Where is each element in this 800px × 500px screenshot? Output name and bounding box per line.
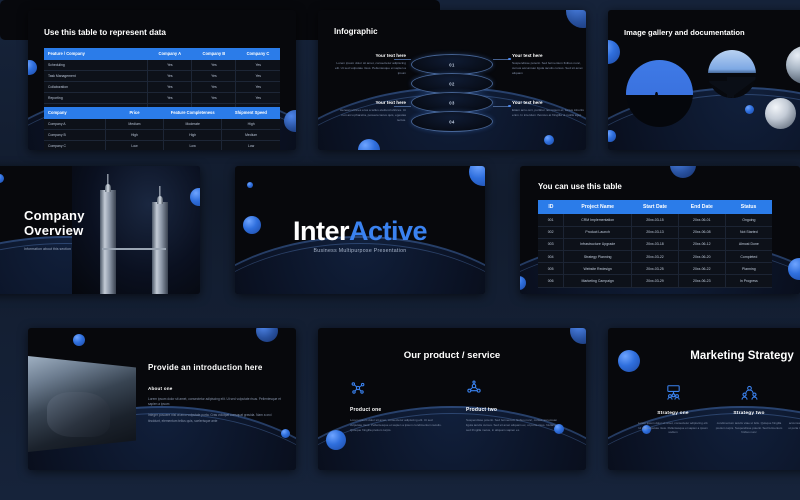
- decorative-sphere: [570, 328, 586, 344]
- callout-bottom-left: Your text here Aenean ultrices eros a te…: [334, 100, 406, 122]
- product-item-two: Product two Suspendisse potenti. Sed fer…: [466, 380, 560, 432]
- table-cell: Yes: [148, 70, 192, 81]
- overview-text: Company Overview Information about this …: [24, 208, 120, 251]
- table-cell: 20xx-03-13: [632, 226, 679, 238]
- gallery-photo-mountain[interactable]: [708, 50, 756, 98]
- page-title: Use this table to represent data: [44, 28, 166, 37]
- col-header: End Date: [678, 200, 725, 214]
- table-cell: Low: [105, 140, 163, 150]
- callout-bottom-right: Your text here Etiam arcu orci, porttito…: [512, 100, 584, 118]
- page-title: Marketing Strategy: [608, 350, 800, 362]
- decorative-sphere: [256, 328, 278, 342]
- table-row[interactable]: 005Website Redesign20xx-03-2520xx-06-22P…: [538, 263, 772, 275]
- table-cell: Yes: [192, 92, 236, 103]
- callout-top-right: Your text here Suspendisse potenti. Sed …: [512, 53, 584, 75]
- table-header-row: Company Price Feature Completeness Shipm…: [44, 107, 280, 119]
- table-cell: Ongoing: [725, 214, 772, 226]
- table-cell: Reporting: [44, 92, 148, 103]
- product-title: Product one: [350, 407, 444, 413]
- intro-photo-kayak[interactable]: [28, 356, 136, 452]
- brand-wordmark: InterActive: [235, 216, 485, 247]
- table-row[interactable]: 003Infrastructure Upgrade20xx-03-1820xx-…: [538, 238, 772, 250]
- col-header: Company B: [192, 48, 236, 60]
- slide-introduction[interactable]: Provide an introduction here About one L…: [28, 328, 296, 470]
- table-cell: 20xx-06-23: [678, 275, 725, 287]
- table-cell: Yes: [236, 70, 280, 81]
- network-icon: [466, 380, 560, 396]
- table-cell: Low: [164, 140, 222, 150]
- table-cell: High: [222, 119, 280, 130]
- col-header: Company A: [148, 48, 192, 60]
- feature-comparison-table[interactable]: Feature / Company Company A Company B Co…: [44, 48, 280, 115]
- strategy-body: accumsan ligula iaculis cursus. Sed sit …: [788, 421, 800, 430]
- table-header-row: Feature / Company Company A Company B Co…: [44, 48, 280, 60]
- callout-title: Your text here: [512, 53, 584, 58]
- decorative-sphere: [745, 105, 754, 114]
- table-cell: Yes: [236, 92, 280, 103]
- table-cell: 20xx-03-22: [632, 250, 679, 262]
- table-cell: 20xx-06-08: [678, 226, 725, 238]
- table-cell: Yes: [148, 60, 192, 71]
- table-row[interactable]: CollaborationYesYesYes: [44, 81, 280, 92]
- strategy-body: Lorem ipsum dolor sit amet, consectetur …: [636, 421, 710, 435]
- col-header: Shipment Speed: [222, 107, 280, 119]
- slide-product-service[interactable]: Our product / service Product one Lorem …: [318, 328, 586, 470]
- strategy-title: Strategy three: [788, 411, 800, 416]
- page-title: Image gallery and documentation: [624, 28, 745, 37]
- table-cell: 20xx-06-20: [678, 250, 725, 262]
- brand-part-active: Active: [349, 216, 427, 246]
- table-row[interactable]: SchedulingYesYesYes: [44, 60, 280, 71]
- table-cell: Scheduling: [44, 60, 148, 71]
- group-icon: [788, 384, 800, 401]
- table-cell: 004: [538, 250, 564, 262]
- gallery-photo-moon[interactable]: [765, 98, 796, 129]
- page-title: Our product / service: [318, 350, 586, 361]
- callout-body: Suspendisse potenti. Sed fermentum finib…: [512, 61, 584, 75]
- callout-top-left: Your text here Lorem ipsum dolor sit ame…: [334, 53, 406, 75]
- strategy-item-two: Strategy two condimentum iaculis vitae u…: [712, 384, 786, 435]
- decorative-sphere: [544, 135, 554, 145]
- table-cell: Yes: [192, 81, 236, 92]
- page-title-line2: Overview: [24, 223, 120, 238]
- strategy-title: Strategy two: [712, 411, 786, 416]
- step-ellipse[interactable]: 01: [411, 54, 493, 75]
- table-cell: 20xx-06-22: [678, 263, 725, 275]
- step-ellipse[interactable]: 02: [411, 73, 493, 94]
- step-number: 04: [412, 119, 492, 124]
- table-cell: Company C: [44, 140, 105, 150]
- slide-table-data[interactable]: Use this table to represent data Feature…: [28, 10, 296, 150]
- body-paragraph-2: Integer posuere nisl ut arcu vulputate p…: [148, 413, 284, 423]
- table-cell: CRM Implementation: [564, 214, 632, 226]
- table-cell: Completed: [725, 250, 772, 262]
- callout-title: Your text here: [334, 100, 406, 105]
- body-paragraph-1: Lorem ipsum dolor sit amet, consectetur …: [148, 397, 284, 407]
- step-ellipse[interactable]: 04: [411, 111, 493, 132]
- table-cell: Planning: [725, 263, 772, 275]
- table-cell: Company A: [44, 119, 105, 130]
- table-cell: Company B: [44, 129, 105, 140]
- table-cell: Yes: [236, 60, 280, 71]
- table-cell: Yes: [148, 92, 192, 103]
- slide-infographic[interactable]: Infographic 01 02 03 04 Your text here L…: [318, 10, 586, 150]
- table-cell: In Progress: [725, 275, 772, 287]
- table-row[interactable]: 001CRM Implementation20xx-03-1520xx-06-0…: [538, 214, 772, 226]
- presentation-icon: [636, 384, 710, 401]
- table-row[interactable]: 006Marketing Campaign20xx-03-2920xx-06-2…: [538, 275, 772, 287]
- decorative-sphere: [670, 166, 696, 178]
- table-row[interactable]: Company CLowLowLow: [44, 140, 280, 150]
- step-number: 02: [412, 81, 492, 86]
- table-row[interactable]: Task ManagementYesYesYes: [44, 70, 280, 81]
- connector-dot: [508, 58, 511, 61]
- product-item-one: Product one Lorem ipsum dolor sit amet, …: [350, 380, 444, 432]
- page-title: Infographic: [334, 27, 378, 36]
- table-cell: Website Redesign: [564, 263, 632, 275]
- table-row[interactable]: 002Product Launch20xx-03-1320xx-06-08Not…: [538, 226, 772, 238]
- col-header: Project Name: [564, 200, 632, 214]
- decorative-sphere: [190, 188, 200, 206]
- brand-subtitle: Business Multipurpose Presentation: [235, 248, 485, 254]
- section-subtitle: About one: [148, 386, 284, 391]
- col-header: Feature / Company: [44, 48, 148, 60]
- table-cell: 002: [538, 226, 564, 238]
- page-title: Provide an introduction here: [148, 363, 284, 372]
- table-cell: 006: [538, 275, 564, 287]
- project-schedule-table[interactable]: ID Project Name Start Date End Date Stat…: [538, 200, 772, 288]
- table-cell: Not Started: [725, 226, 772, 238]
- page-title: You can use this table: [538, 182, 622, 191]
- table-cell: Yes: [236, 81, 280, 92]
- decorative-sphere: [0, 174, 4, 183]
- table-row[interactable]: ReportingYesYesYes: [44, 92, 280, 103]
- col-header: Feature Completeness: [164, 107, 222, 119]
- connector-dot: [508, 105, 511, 108]
- table-cell: High: [105, 129, 163, 140]
- team-icon: [712, 384, 786, 401]
- callout-body: Aenean ultrices eros a tellus eleifend u…: [334, 108, 406, 122]
- company-metrics-table[interactable]: Company Price Feature Completeness Shipm…: [44, 107, 280, 150]
- table-row[interactable]: Company AMediumModerateHigh: [44, 119, 280, 130]
- slide-deck-preview: Use this table to represent data Feature…: [0, 0, 800, 500]
- col-header: Start Date: [632, 200, 679, 214]
- col-header: Company: [44, 107, 105, 119]
- table-cell: Infrastructure Upgrade: [564, 238, 632, 250]
- strategy-item-three: Strategy three accumsan ligula iaculis c…: [788, 384, 800, 430]
- decorative-sphere: [281, 429, 290, 438]
- callout-title: Your text here: [512, 100, 584, 105]
- table-cell: Collaboration: [44, 81, 148, 92]
- slide-image-gallery[interactable]: Image gallery and documentation: [608, 10, 800, 150]
- decorative-sphere: [608, 40, 620, 64]
- product-body: Lorem ipsum dolor sit amet, consectetur …: [350, 418, 444, 432]
- table-cell: Yes: [148, 81, 192, 92]
- col-header: Status: [725, 200, 772, 214]
- step-number: 01: [412, 62, 492, 67]
- table-row[interactable]: Company BHighHighMedium: [44, 129, 280, 140]
- table-cell: 001: [538, 214, 564, 226]
- page-subtitle: Information about this section: [24, 247, 120, 251]
- table-cell: Marketing Campaign: [564, 275, 632, 287]
- intro-text: Provide an introduction here About one L…: [148, 363, 284, 424]
- table-cell: 20xx-06-01: [678, 214, 725, 226]
- table-cell: Medium: [222, 129, 280, 140]
- table-cell: Low: [222, 140, 280, 150]
- slide-title[interactable]: InterActive Business Multipurpose Presen…: [235, 166, 485, 294]
- page-title-line1: Company: [24, 208, 120, 223]
- col-header: ID: [538, 200, 564, 214]
- table-cell: Yes: [192, 60, 236, 71]
- table-cell: Moderate: [164, 119, 222, 130]
- product-body: Suspendisse potenti. Sed fermentum finib…: [466, 418, 560, 432]
- step-stack: 01 02 03 04: [411, 54, 493, 132]
- callout-body: Lorem ipsum dolor sit amet, consectetur …: [334, 61, 406, 75]
- decorative-sphere: [247, 182, 253, 188]
- step-number: 03: [412, 100, 492, 105]
- table-cell: High: [164, 129, 222, 140]
- callout-body: Etiam arcu orci, porttitor nec ipsum et,…: [512, 108, 584, 118]
- table-cell: Yes: [192, 70, 236, 81]
- gallery-photo-rock[interactable]: [786, 46, 800, 84]
- table-cell: 20xx-03-18: [632, 238, 679, 250]
- table-cell: 20xx-03-29: [632, 275, 679, 287]
- gallery-photo-person[interactable]: [626, 60, 693, 127]
- strategy-title: Strategy one: [636, 411, 710, 416]
- table-cell: Strategy Planning: [564, 250, 632, 262]
- brand-part-inter: Inter: [293, 216, 349, 246]
- table-cell: Almost Done: [725, 238, 772, 250]
- slide-project-table[interactable]: You can use this table ID Project Name S…: [520, 166, 800, 294]
- slide-company-overview[interactable]: Company Overview Information about this …: [0, 166, 200, 294]
- strategy-body: condimentum iaculis vitae ut felis. Quis…: [712, 421, 786, 435]
- decorative-sphere: [566, 10, 586, 28]
- table-header-row: ID Project Name Start Date End Date Stat…: [538, 200, 772, 214]
- table-cell: 005: [538, 263, 564, 275]
- decorative-sphere: [28, 60, 37, 75]
- slide-marketing-strategy[interactable]: Marketing Strategy Strategy one Lorem ip…: [608, 328, 800, 470]
- strategy-item-one: Strategy one Lorem ipsum dolor sit amet,…: [636, 384, 710, 435]
- table-cell: 20xx-03-25: [632, 263, 679, 275]
- molecule-icon: [350, 380, 444, 396]
- table-row[interactable]: 004Strategy Planning20xx-03-2220xx-06-20…: [538, 250, 772, 262]
- col-header: Price: [105, 107, 163, 119]
- decorative-sphere: [469, 166, 485, 186]
- product-title: Product two: [466, 407, 560, 413]
- table-cell: Medium: [105, 119, 163, 130]
- decorative-sphere: [73, 334, 85, 346]
- table-cell: Product Launch: [564, 226, 632, 238]
- table-cell: 20xx-03-15: [632, 214, 679, 226]
- table-cell: Task Management: [44, 70, 148, 81]
- col-header: Company C: [236, 48, 280, 60]
- decorative-sphere: [326, 430, 346, 450]
- table-cell: 20xx-06-12: [678, 238, 725, 250]
- step-ellipse[interactable]: 03: [411, 92, 493, 113]
- table-cell: 003: [538, 238, 564, 250]
- callout-title: Your text here: [334, 53, 406, 58]
